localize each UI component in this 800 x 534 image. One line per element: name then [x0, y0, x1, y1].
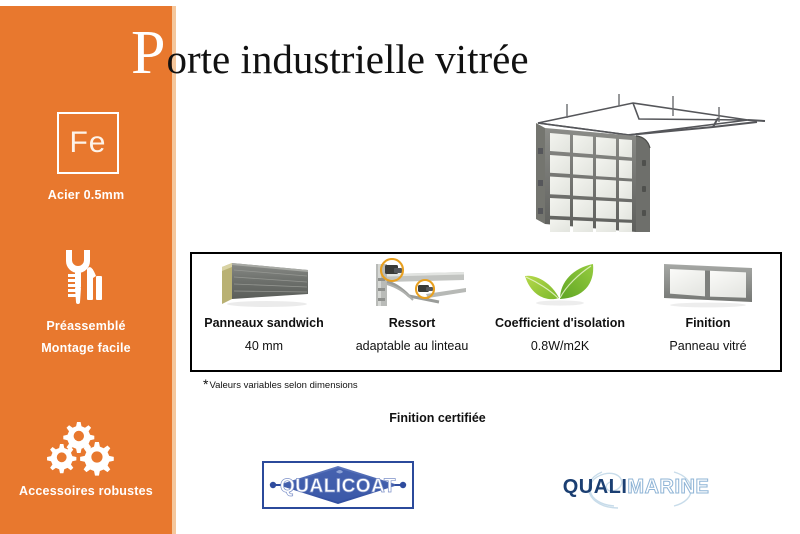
- qualimarine-wordmark: QUALIMARINE: [556, 476, 716, 499]
- sidebar-label-preassemble: Préassemblé: [0, 319, 172, 333]
- footnote: * Valeurs variables selon dimensions: [203, 380, 358, 391]
- certified-label: Finition certifiée: [389, 411, 486, 425]
- feature-sub: 0.8W/m2K: [531, 339, 589, 353]
- certified-label-row: Finition certifiée: [0, 411, 800, 425]
- product-datasheet-page: Fe Acier 0.5mm Préassemblé Montage facil…: [0, 0, 800, 534]
- feature-panneaux-sandwich: Panneaux sandwich 40 mm: [190, 252, 338, 372]
- page-title: P orte industrielle vitrée: [131, 22, 529, 84]
- wrench-screw-icon: [0, 248, 172, 310]
- sandwich-panel-icon: [212, 258, 316, 310]
- spring-mechanism-icon: [356, 258, 468, 310]
- feature-ressort: Ressort adaptable au linteau: [338, 252, 486, 372]
- iron-symbol-label: Fe: [59, 114, 117, 172]
- qualimarine-text-secondary: MARINE: [627, 476, 709, 498]
- sidebar-label-accessoires: Accessoires robustes: [0, 484, 172, 498]
- gears-icon: [0, 420, 172, 476]
- page-title-initial: P: [131, 22, 165, 84]
- feature-title: Ressort: [389, 316, 436, 330]
- qualimarine-text-primary: QUALI: [563, 476, 628, 498]
- glazed-panel-icon: [658, 258, 758, 310]
- feature-title: Coefficient d'isolation: [495, 316, 625, 330]
- feature-sub: 40 mm: [245, 339, 283, 353]
- qualicoat-logo: QUALICOAT: [262, 461, 414, 509]
- feature-finition: Finition Panneau vitré: [634, 252, 782, 372]
- feature-title: Finition: [685, 316, 730, 330]
- features-row: Panneaux sandwich 40 mm: [190, 252, 782, 372]
- sidebar-label-montage: Montage facile: [0, 341, 172, 355]
- feature-sub: adaptable au linteau: [356, 339, 469, 353]
- feature-sub: Panneau vitré: [669, 339, 746, 353]
- page-title-rest: orte industrielle vitrée: [166, 39, 528, 80]
- sidebar-label-acier: Acier 0.5mm: [0, 188, 172, 202]
- product-hero-image: [505, 82, 785, 232]
- feature-coefficient-isolation: Coefficient d'isolation 0.8W/m2K: [486, 252, 634, 372]
- green-leaves-icon: [517, 258, 603, 310]
- iron-symbol-icon: Fe: [57, 112, 119, 174]
- footnote-text: Valeurs variables selon dimensions: [209, 380, 357, 391]
- feature-title: Panneaux sandwich: [204, 316, 323, 330]
- qualicoat-wordmark: QUALICOAT: [280, 476, 396, 497]
- qualimarine-logo: QUALIMARINE: [556, 466, 716, 510]
- sidebar-edge-strip: [172, 6, 176, 534]
- footnote-asterisk: *: [203, 380, 208, 389]
